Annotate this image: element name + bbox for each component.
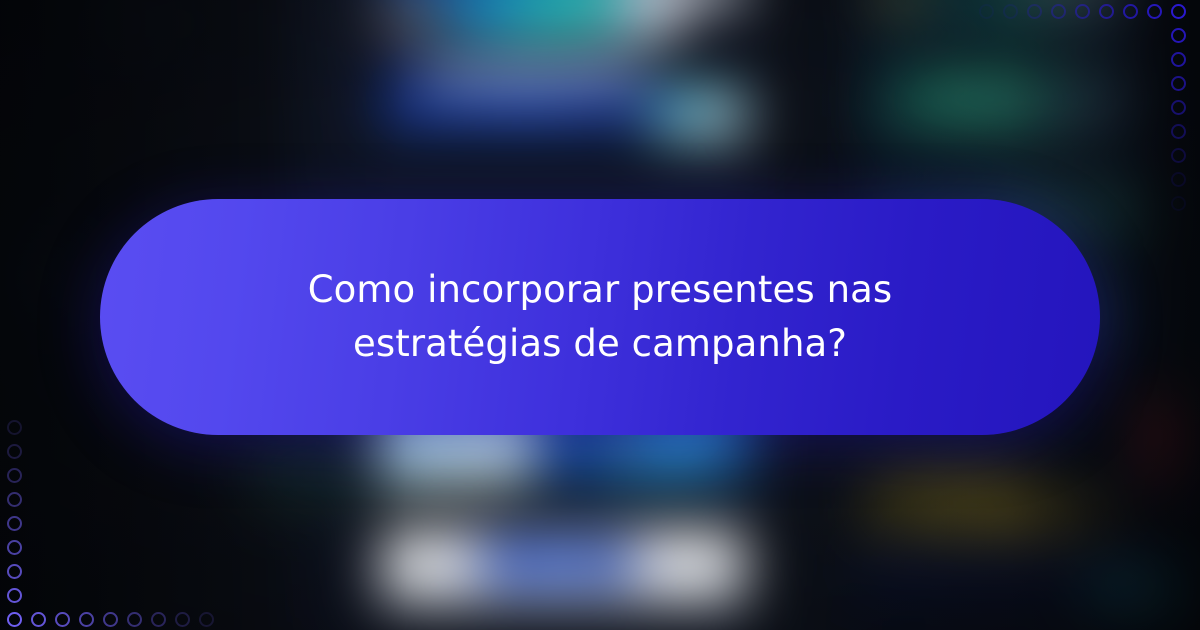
background-blob bbox=[0, 246, 91, 310]
screenshot-canvas: Como incorporar presentes nas estratégia… bbox=[0, 0, 1200, 630]
background-amber-chip bbox=[876, 0, 925, 7]
background-light-row bbox=[420, 57, 643, 85]
background-black-bar bbox=[494, 490, 584, 518]
background-blue-accent bbox=[670, 435, 698, 454]
background-blue-row bbox=[380, 87, 698, 125]
background-cyan-chip bbox=[653, 87, 746, 140]
background-amber-chip bbox=[371, 4, 445, 32]
question-card: Como incorporar presentes nas estratégia… bbox=[100, 199, 1100, 435]
question-text: Como incorporar presentes nas estratégia… bbox=[220, 263, 980, 370]
background-blob bbox=[240, 437, 367, 511]
background-hero-inner bbox=[457, 0, 627, 34]
background-green-chip bbox=[1111, 178, 1143, 237]
background-hero-label bbox=[621, 0, 746, 4]
background-olive-band bbox=[859, 486, 1124, 537]
background-blob bbox=[81, 2, 176, 44]
background-right-card-inner bbox=[907, 77, 1045, 119]
background-navy-block bbox=[386, 45, 423, 75]
background-red-accent bbox=[1141, 395, 1183, 490]
background-cyan-footer bbox=[1088, 570, 1190, 606]
background-button-accent bbox=[555, 547, 580, 579]
